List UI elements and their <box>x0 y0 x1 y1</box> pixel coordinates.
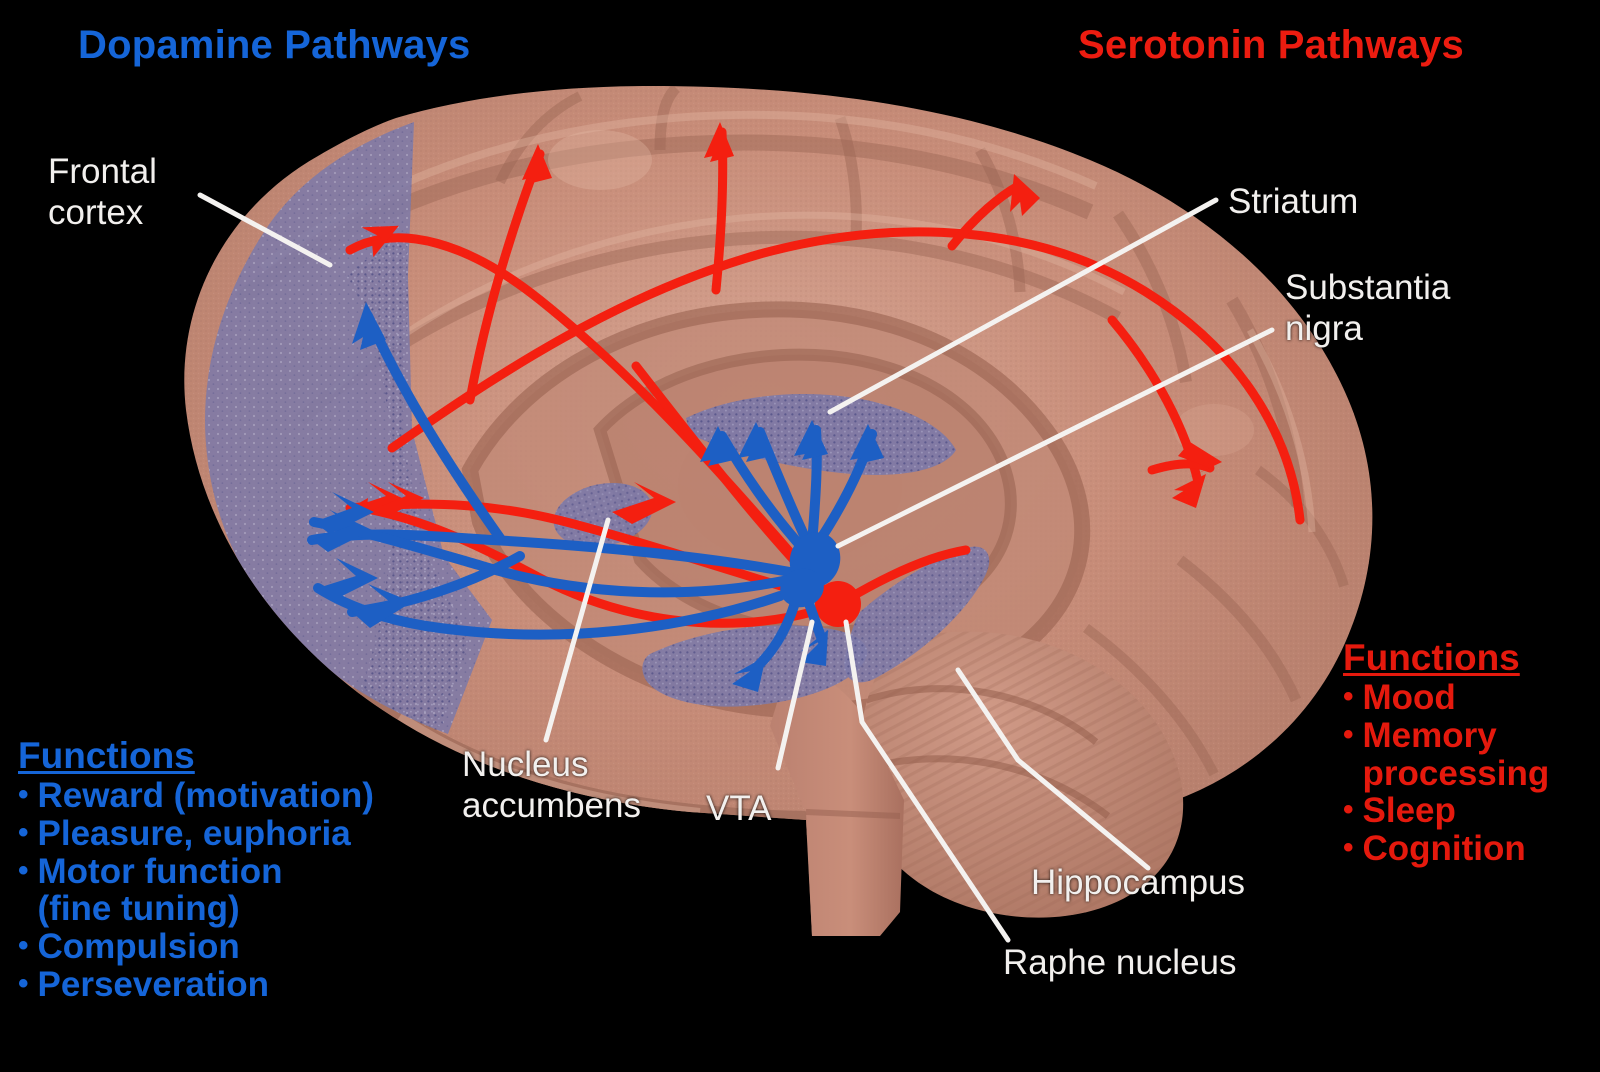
list-item-label: Motor function <box>38 853 283 891</box>
list-item-label: Cognition <box>1363 830 1526 868</box>
list-item-label: Pleasure, euphoria <box>38 815 351 853</box>
list-item-label: Mood <box>1363 679 1456 717</box>
label-frontal-cortex: Frontal cortex <box>48 152 157 233</box>
list-item-label: Compulsion <box>38 928 240 966</box>
list-item: • Mood <box>1343 679 1549 717</box>
brain-pathways-diagram: Dopamine Pathways Serotonin Pathways Fro… <box>0 0 1600 1072</box>
bullet-icon: • <box>1343 792 1354 829</box>
bullet-icon: • <box>1343 717 1354 754</box>
bullet-icon: • <box>18 777 29 814</box>
dopamine-functions-heading: Functions <box>18 735 374 777</box>
list-item-label: (fine tuning) <box>38 890 240 928</box>
label-raphe-nucleus: Raphe nucleus <box>1003 943 1237 984</box>
list-item: • Perseveration <box>18 966 374 1004</box>
list-item-label: Perseveration <box>38 966 270 1004</box>
serotonin-functions-list: • Mood • Memory • processing • Sleep • C… <box>1343 679 1549 868</box>
list-item: • Reward (motivation) <box>18 777 374 815</box>
bullet-icon: • <box>1343 679 1354 716</box>
list-item: • Cognition <box>1343 830 1549 868</box>
list-item: • Motor function <box>18 853 374 891</box>
list-item: • Sleep <box>1343 792 1549 830</box>
bullet-icon: • <box>1343 830 1354 867</box>
dopamine-pathways-title: Dopamine Pathways <box>78 23 470 68</box>
list-item: • processing <box>1343 755 1549 793</box>
bullet-icon: • <box>18 928 29 965</box>
list-item: • (fine tuning) <box>18 890 374 928</box>
label-striatum: Striatum <box>1228 182 1358 223</box>
label-vta: VTA <box>706 789 771 830</box>
list-item: • Pleasure, euphoria <box>18 815 374 853</box>
serotonin-pathways-title: Serotonin Pathways <box>1078 23 1464 68</box>
list-item: • Compulsion <box>18 928 374 966</box>
bullet-icon: • <box>18 815 29 852</box>
bullet-icon: • <box>18 966 29 1003</box>
serotonin-functions-heading: Functions <box>1343 637 1549 679</box>
label-nucleus-accumbens: Nucleus accumbens <box>462 745 641 826</box>
list-item: • Memory <box>1343 717 1549 755</box>
list-item-label: Reward (motivation) <box>38 777 374 815</box>
dopamine-functions-panel: Functions • Reward (motivation) • Pleasu… <box>18 735 374 1004</box>
serotonin-functions-panel: Functions • Mood • Memory • processing •… <box>1343 637 1549 868</box>
list-item-label: Memory <box>1363 717 1497 755</box>
list-item-label: processing <box>1363 755 1550 793</box>
label-substantia-nigra: Substantia nigra <box>1285 268 1450 349</box>
label-hippocampus: Hippocampus <box>1031 863 1245 904</box>
list-item-label: Sleep <box>1363 792 1456 830</box>
dopamine-functions-list: • Reward (motivation) • Pleasure, euphor… <box>18 777 374 1004</box>
bullet-icon: • <box>18 853 29 890</box>
